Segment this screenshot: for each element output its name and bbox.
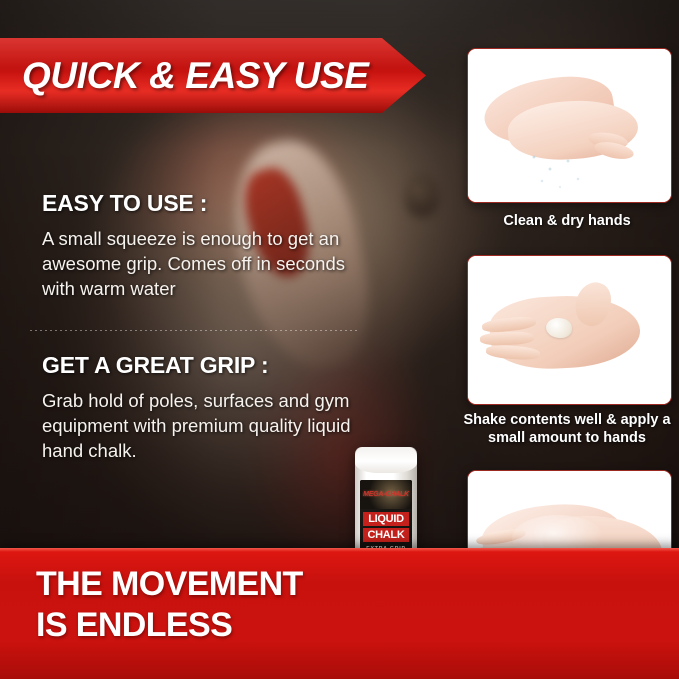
banner-title: QUICK & EASY USE bbox=[22, 55, 369, 97]
brand-badge: MEGA-CHALK bbox=[360, 480, 412, 509]
water-droplets-icon bbox=[520, 149, 594, 191]
footer-tagline: THE MOVEMENT IS ENDLESS bbox=[36, 564, 396, 646]
footer-line-2: IS ENDLESS bbox=[36, 605, 396, 646]
product-name-line2: CHALK bbox=[363, 528, 409, 542]
banner-highlight bbox=[0, 548, 679, 552]
product-name-line1: LIQUID bbox=[363, 512, 409, 526]
step-card-1 bbox=[467, 48, 672, 203]
brand-name: MEGA-CHALK bbox=[363, 491, 409, 498]
section-body: A small squeeze is enough to get an awes… bbox=[42, 226, 372, 301]
tube-shoulder bbox=[355, 447, 417, 473]
section-divider bbox=[30, 330, 360, 331]
section-great-grip: GET A GREAT GRIP : Grab hold of poles, s… bbox=[42, 352, 377, 463]
chalk-dollop-icon bbox=[546, 318, 572, 338]
top-banner: QUICK & EASY USE bbox=[0, 38, 426, 113]
footer-line-1: THE MOVEMENT bbox=[36, 564, 396, 605]
section-easy-to-use: EASY TO USE : A small squeeze is enough … bbox=[42, 190, 372, 301]
step-caption-2: Shake contents well & apply a small amou… bbox=[455, 411, 679, 447]
bottom-banner: THE MOVEMENT IS ENDLESS bbox=[0, 548, 679, 679]
section-body: Grab hold of poles, surfaces and gym equ… bbox=[42, 388, 377, 463]
palm-with-chalk-dollop-photo bbox=[468, 256, 671, 404]
section-heading: GET A GREAT GRIP : bbox=[42, 352, 377, 379]
step-card-2 bbox=[467, 255, 672, 405]
hands-washing-photo bbox=[468, 49, 671, 202]
step-caption-1: Clean & dry hands bbox=[455, 212, 679, 230]
section-heading: EASY TO USE : bbox=[42, 190, 372, 217]
infographic-canvas: QUICK & EASY USE EASY TO USE : A small s… bbox=[0, 0, 679, 679]
